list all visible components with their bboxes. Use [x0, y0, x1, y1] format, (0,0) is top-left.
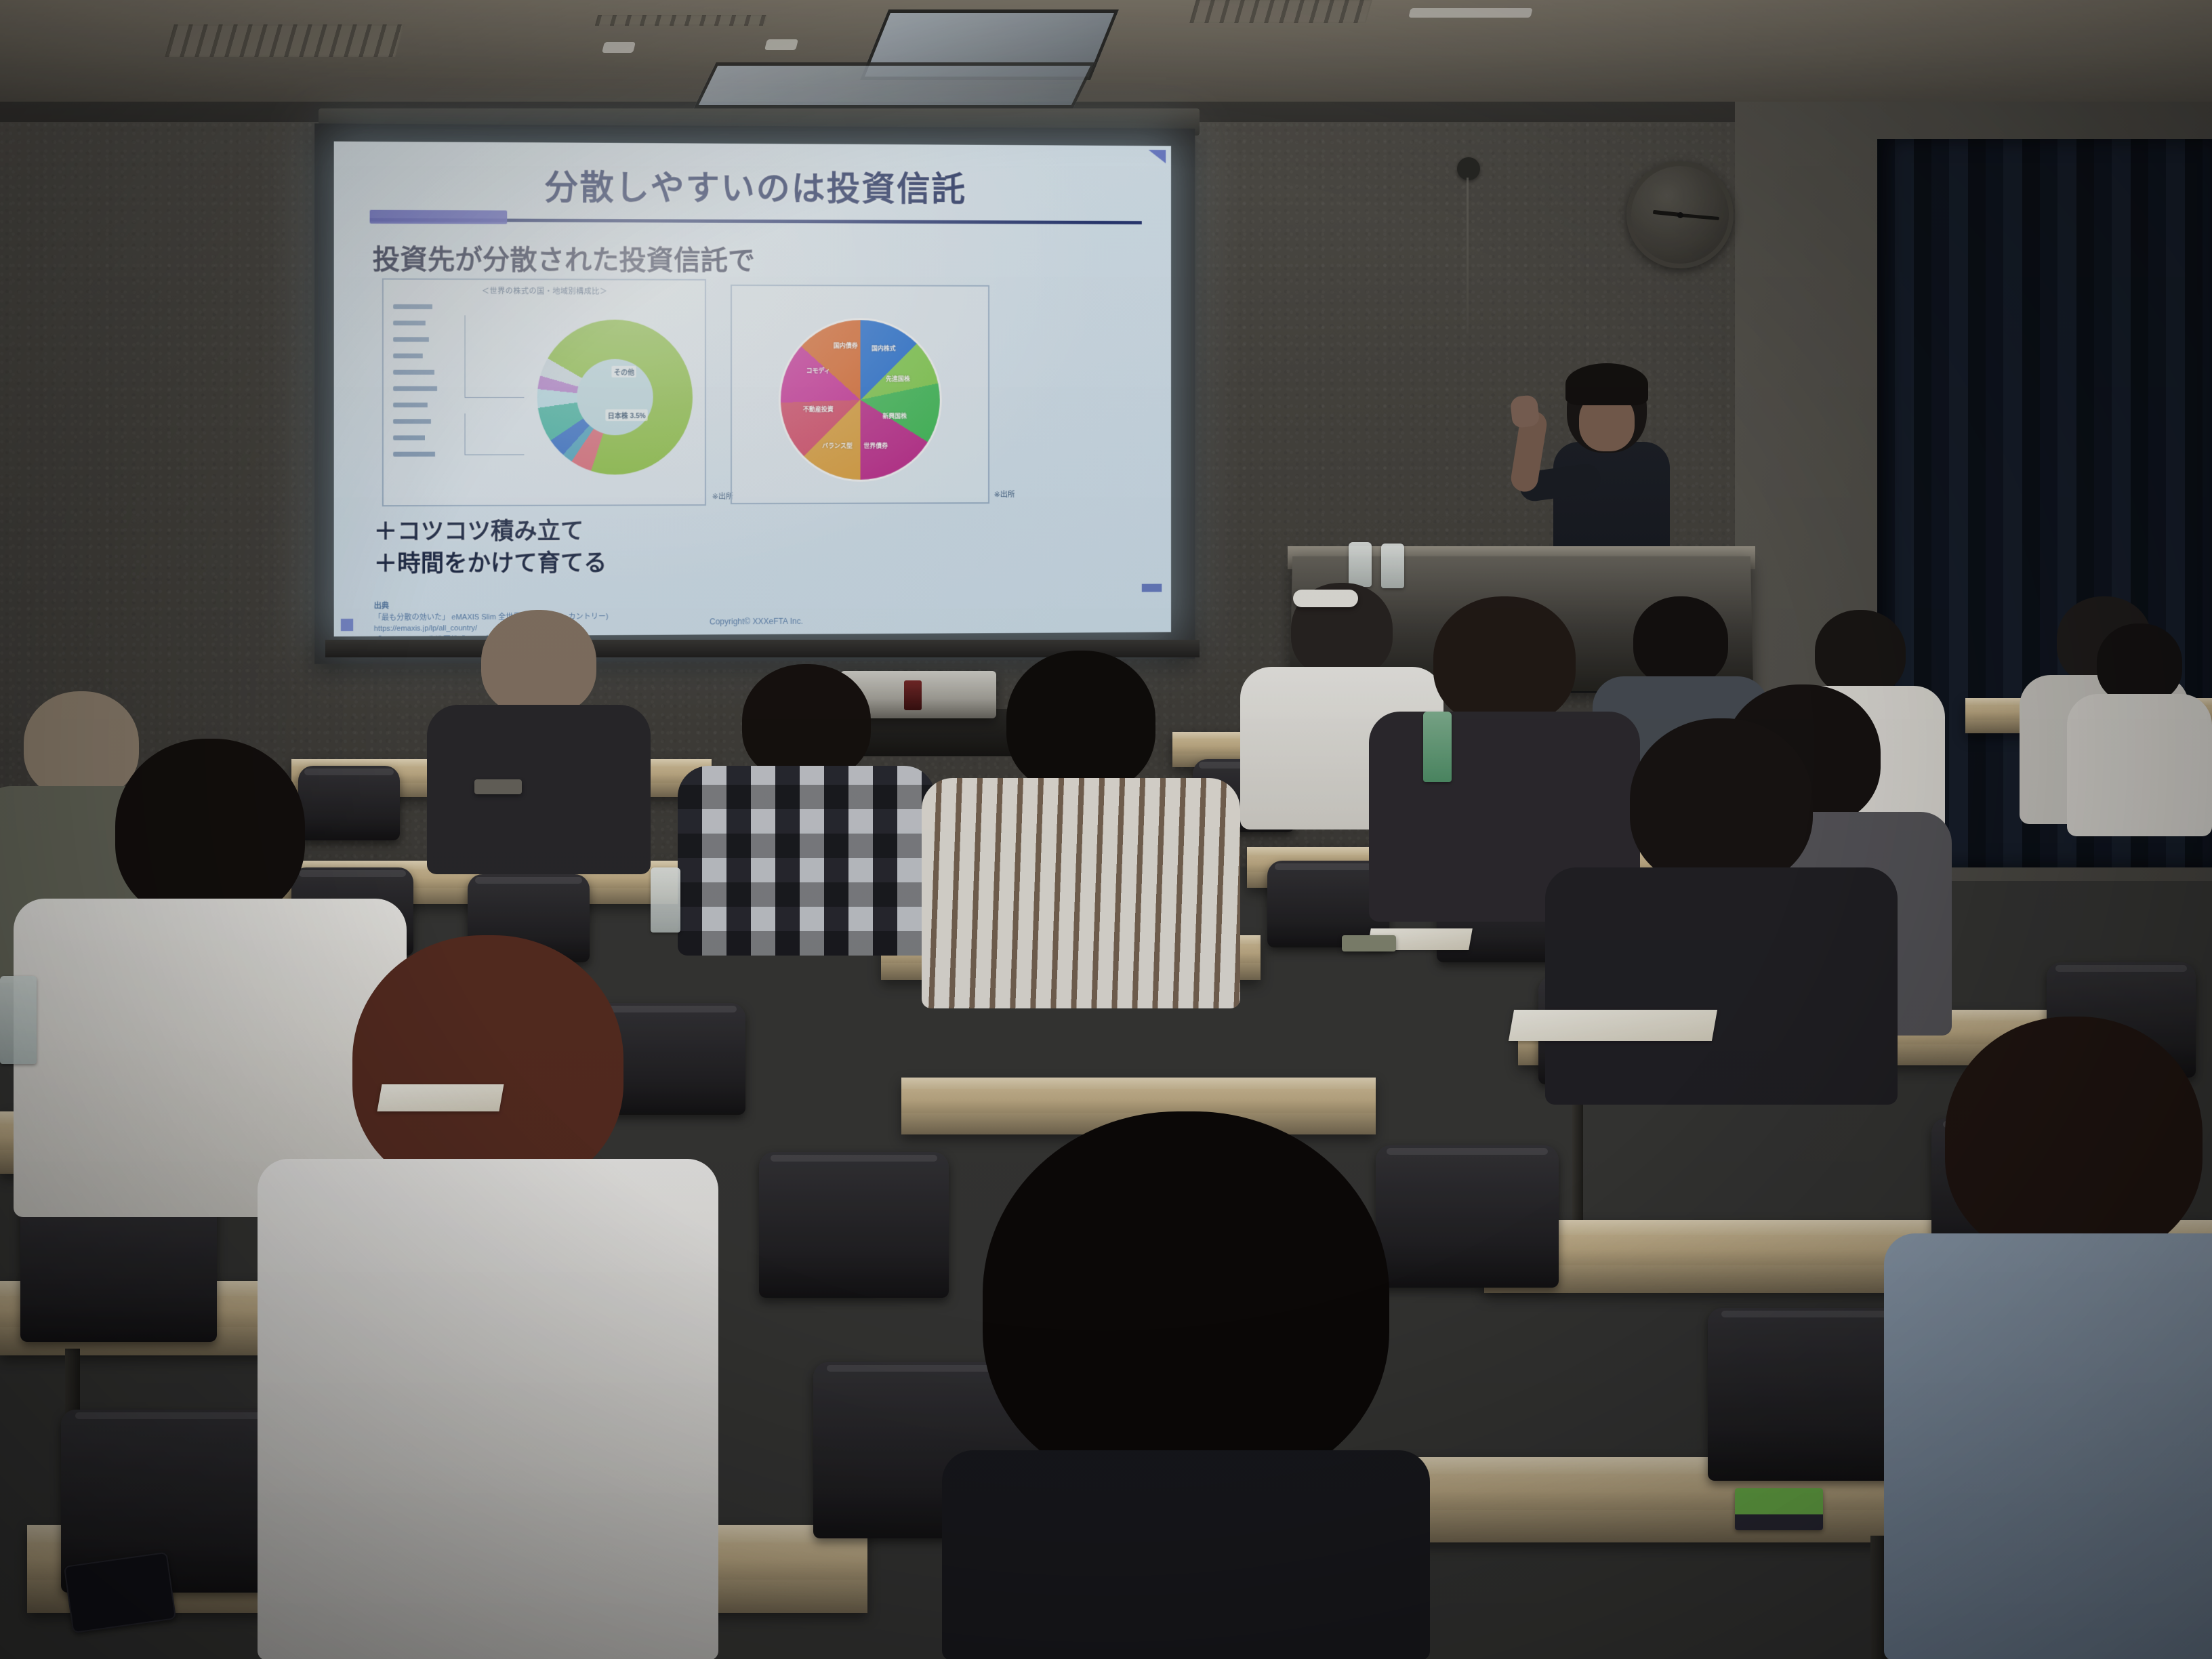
wall-clock-icon — [1626, 161, 1734, 268]
slide-subtitle: 投資先が分散された投資信託で — [373, 237, 755, 278]
person-torso — [1545, 867, 1898, 1105]
pie-slice-label: 国内株式 — [872, 344, 896, 353]
water-bottle — [1423, 712, 1452, 782]
person-head — [2097, 623, 2182, 703]
audience-member — [2067, 623, 2212, 827]
presenter-hair — [1565, 363, 1648, 405]
wall-speaker-icon — [1457, 157, 1480, 180]
slide-decor-corner-bl-icon — [341, 619, 353, 631]
ceiling-vent — [1189, 0, 1372, 23]
person-head — [742, 664, 871, 781]
pie-slice-label: 不動産投資 — [803, 405, 834, 413]
audience-member — [427, 610, 651, 867]
water-bottle — [0, 976, 37, 1064]
legend-row — [393, 304, 456, 309]
person-head — [1633, 596, 1728, 686]
legend-row — [393, 386, 464, 391]
person-torso — [258, 1159, 718, 1659]
audience-member — [258, 935, 718, 1659]
ceiling-vent — [165, 24, 405, 57]
legend-row — [393, 419, 453, 424]
chair — [759, 1152, 949, 1298]
person-torso — [2067, 694, 2212, 836]
person-torso — [942, 1450, 1430, 1659]
right-chart-panel: 国内株式 先進国株 新興国株 世界債券 バランス型 不動産投資 コモディ 国内債… — [731, 285, 989, 504]
donut-label-japan: 日本株 3.5% — [606, 409, 648, 421]
seminar-room-photo: 分散しやすいのは投資信託 投資先が分散された投資信託で ＜世界の株式の国・地域別… — [0, 0, 2212, 1659]
person-torso — [678, 766, 935, 956]
ceiling-light-tube — [764, 39, 798, 50]
pie-slice-label: 世界債券 — [863, 441, 888, 450]
pie-slice-label: 先進国株 — [886, 374, 910, 383]
person-head — [1630, 718, 1813, 888]
slide-bullet-2: ＋時間をかけて育てる — [374, 548, 607, 580]
donut-label-other: その他 — [612, 366, 636, 377]
projection-screen: 分散しやすいのは投資信託 投資先が分散された投資信託で ＜世界の株式の国・地域別… — [314, 123, 1195, 664]
legend-row — [393, 354, 441, 359]
legend-leader-line — [465, 315, 525, 398]
left-donut-chart: その他 日本株 3.5% — [537, 319, 693, 474]
person-torso — [427, 705, 651, 874]
slide-bullet-1: ＋コツコツ積み立て — [374, 516, 607, 548]
slide-title: 分散しやすいのは投資信託 — [334, 159, 1171, 212]
audience-member — [922, 651, 1240, 1003]
clock-minute-hand — [1680, 213, 1719, 220]
desk-item — [474, 779, 522, 794]
green-pouch — [1735, 1488, 1823, 1530]
legend-row — [393, 403, 448, 407]
person-head — [1945, 1017, 2203, 1261]
audience-member — [1545, 718, 1898, 1098]
ceiling-vent — [595, 15, 768, 26]
right-chart-source-tag: ※出所 — [994, 489, 1015, 499]
legend-row — [393, 321, 445, 325]
person-head — [115, 739, 305, 922]
left-chart-caption: ＜世界の株式の国・地域別構成比＞ — [384, 285, 705, 297]
legend-row — [393, 435, 444, 440]
speaker-cable — [1467, 178, 1469, 333]
clock-hour-hand — [1653, 210, 1680, 217]
presentation-slide: 分散しやすいのは投資信託 投資先が分散された投資信託で ＜世界の株式の国・地域別… — [334, 142, 1171, 637]
slide-bullets: ＋コツコツ積み立て ＋時間をかけて育てる — [374, 516, 607, 581]
legend-row — [393, 452, 460, 457]
water-bottle — [651, 867, 680, 933]
slide-title-tab — [370, 210, 508, 224]
hair-band — [1293, 590, 1358, 607]
person-head — [352, 935, 623, 1193]
legend-leader-line — [465, 413, 525, 455]
legend-row — [393, 370, 459, 375]
audience-member — [678, 664, 935, 949]
person-head — [1006, 651, 1155, 793]
smartphone — [64, 1552, 176, 1633]
pie-slice-label: 国内債券 — [834, 341, 858, 350]
ceiling-light-tube — [602, 42, 636, 53]
pie-slice-label: コモディ — [806, 366, 830, 375]
audience-member — [942, 1111, 1430, 1659]
legend-row — [393, 337, 451, 342]
ceiling-light-panel — [693, 62, 1095, 108]
slide-decor-corner-icon — [1149, 150, 1166, 163]
audience-member — [1884, 1017, 2212, 1659]
pie-slice-label: 新興国株 — [882, 411, 907, 419]
left-chart-panel: ＜世界の株式の国・地域別構成比＞ その他 — [382, 279, 706, 507]
clock-center-cap — [1677, 212, 1683, 218]
person-torso — [1884, 1233, 2212, 1659]
person-head — [983, 1111, 1389, 1491]
person-head — [481, 610, 596, 716]
right-pie-chart: 国内株式 先進国株 新興国株 世界債券 バランス型 不動産投資 コモディ 国内債… — [781, 320, 940, 480]
ceiling-light-tube — [1408, 8, 1532, 18]
pie-slice-label: バランス型 — [822, 441, 853, 450]
water-bottle — [1349, 542, 1372, 587]
person-head — [1815, 610, 1906, 695]
presenter-hand — [1510, 394, 1540, 428]
handout-paper — [1509, 1010, 1717, 1041]
handout-paper — [377, 1084, 504, 1111]
desk-item — [1342, 935, 1396, 951]
slide-decor-corner-br-icon — [1142, 584, 1162, 592]
person-torso — [922, 778, 1240, 1008]
water-bottle — [1381, 544, 1404, 588]
person-head — [1433, 596, 1576, 725]
